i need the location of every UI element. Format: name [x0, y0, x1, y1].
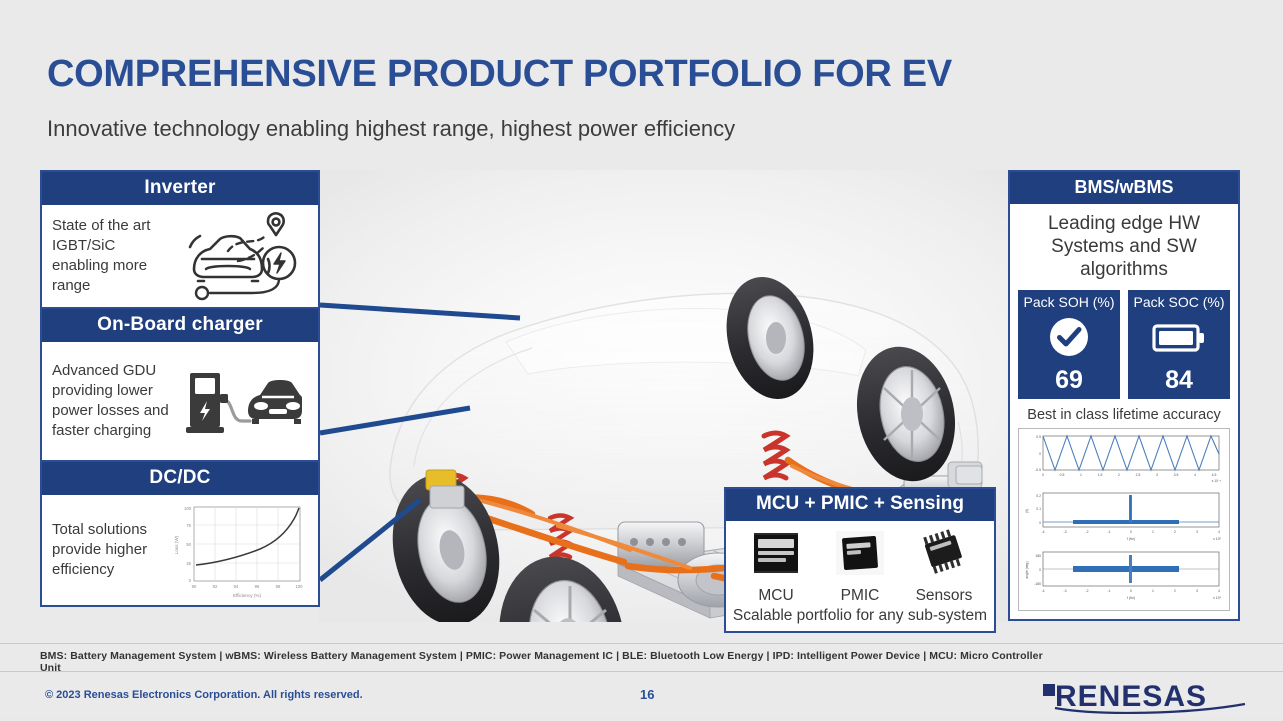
svg-text:2: 2 [1174, 530, 1176, 534]
page-number: 16 [640, 687, 654, 702]
svg-text:-3: -3 [1063, 530, 1066, 534]
svg-text:4: 4 [1218, 589, 1220, 593]
renesas-logo-mark: RENESAS [1039, 676, 1259, 716]
svg-text:-2: -2 [1085, 589, 1088, 593]
slide-root: COMPREHENSIVE PRODUCT PORTFOLIO FOR EV I… [0, 0, 1283, 716]
svg-text:-1: -1 [1107, 530, 1110, 534]
svg-text:3: 3 [1156, 473, 1158, 477]
svg-text:-2: -2 [1085, 530, 1088, 534]
bms-mag-xlabel: f (Hz) [1127, 537, 1135, 541]
svg-text:0.1: 0.1 [1036, 507, 1041, 511]
svg-text:1: 1 [1152, 589, 1154, 593]
svg-text:100: 100 [184, 506, 192, 511]
svg-text:0: 0 [1130, 530, 1132, 534]
panel-inverter-title: Inverter [42, 172, 318, 205]
svg-text:4: 4 [1218, 530, 1220, 534]
panel-bms-title: BMS/wBMS [1010, 172, 1238, 204]
footer-divider-top [0, 643, 1283, 644]
svg-text:2: 2 [1118, 473, 1120, 477]
svg-text:1: 1 [1152, 530, 1154, 534]
svg-text:50: 50 [186, 542, 191, 547]
page-subtitle: Innovative technology enabling highest r… [47, 116, 1047, 142]
svg-text:0.2: 0.2 [1036, 494, 1041, 498]
svg-text:-4: -4 [1041, 530, 1044, 534]
footer-divider-bottom [0, 671, 1283, 672]
svg-text:25: 25 [186, 561, 191, 566]
svg-text:1.5: 1.5 [1098, 473, 1103, 477]
renesas-logo-text: RENESAS [1055, 680, 1207, 713]
svg-text:x 10⁵: x 10⁵ [1213, 596, 1221, 600]
chip-mcu-label: MCU [734, 587, 817, 605]
bms-chart-stack: 0 0.5 1 1.5 2 2.5 3 3.5 4 4.5 0.5 0 -0.5… [1018, 428, 1230, 611]
chip-mcu[interactable]: MCU [734, 527, 817, 605]
svg-text:0: 0 [1130, 589, 1132, 593]
panel-dcdc-title: DC/DC [42, 462, 318, 495]
page-title: COMPREHENSIVE PRODUCT PORTFOLIO FOR EV [47, 55, 1047, 95]
panel-mcu-title: MCU + PMIC + Sensing [726, 489, 994, 521]
bms-spectrum-magnitude-plot: -4 -3 -2 -1 0 1 2 3 4 0.2 0.1 0 f (Hz) x… [1021, 489, 1231, 543]
svg-text:-4: -4 [1041, 589, 1044, 593]
panel-mcu-pmic-sensing[interactable]: MCU + PMIC + Sensing MCU [724, 487, 996, 633]
panel-onboard-charger-text: Advanced GDU providing lower power losse… [52, 361, 170, 440]
bms-phase-ylabel: angle (deg) [1025, 561, 1029, 578]
svg-text:92: 92 [213, 584, 218, 589]
gauge-pack-soh-value: 69 [1020, 368, 1118, 393]
svg-text:2.5: 2.5 [1136, 473, 1141, 477]
svg-text:-0.5: -0.5 [1035, 468, 1041, 472]
svg-text:4.5: 4.5 [1212, 473, 1217, 477]
bms-gauges: Pack SOH (%) 69 Pack SOC (%) [1010, 290, 1238, 405]
gauge-pack-soh[interactable]: Pack SOH (%) 69 [1018, 290, 1120, 399]
gauge-pack-soc[interactable]: Pack SOC (%) 84 [1128, 290, 1230, 399]
svg-text:x 10⁵: x 10⁵ [1213, 537, 1221, 541]
dcdc-xlabel: Efficiency (%) [233, 593, 261, 598]
svg-text:100: 100 [296, 584, 304, 589]
svg-text:-1: -1 [1107, 589, 1110, 593]
panel-dcdc-text: Total solutions provide higher efficienc… [52, 520, 170, 579]
bms-mag-ylabel: |X| [1025, 509, 1029, 513]
svg-text:96: 96 [255, 584, 260, 589]
svg-text:75: 75 [186, 523, 191, 528]
ev-car-route-charge-icon [170, 211, 308, 301]
svg-text:0: 0 [1039, 568, 1041, 572]
svg-text:3: 3 [1196, 530, 1198, 534]
svg-text:-3: -3 [1063, 589, 1066, 593]
svg-text:2: 2 [1174, 589, 1176, 593]
bms-spectrum-phase-plot: -4 -3 -2 -1 0 1 2 3 4 180 0 -180 f (Hz) … [1021, 548, 1231, 602]
left-feature-column: Inverter State of the art IGBT/SiC enabl… [40, 170, 320, 607]
qfp-chip-icon [830, 527, 890, 579]
chip-row: MCU PMIC [726, 521, 994, 605]
chip-sensors[interactable]: Sensors [902, 527, 985, 605]
bms-triangle-waveform-plot: 0 0.5 1 1.5 2 2.5 3 3.5 4 4.5 0.5 0 -0.5… [1021, 432, 1231, 484]
dcdc-efficiency-plot: 90 92 94 96 98 100 100 75 50 25 0 E [170, 499, 308, 601]
panel-bms-lead: Leading edge HW Systems and SW algorithm… [1010, 204, 1238, 290]
copyright-notice: © 2023 Renesas Electronics Corporation. … [45, 689, 363, 701]
panel-dcdc[interactable]: DC/DC Total solutions provide higher eff… [40, 462, 320, 607]
svg-text:90: 90 [192, 584, 197, 589]
svg-text:3.5: 3.5 [1174, 473, 1179, 477]
chip-sensors-label: Sensors [902, 587, 985, 605]
bms-phase-xlabel: f (Hz) [1127, 596, 1135, 600]
gauge-pack-soc-value: 84 [1130, 368, 1228, 393]
dcdc-ylabel: Loss (W) [174, 535, 179, 554]
svg-text:0.5: 0.5 [1060, 473, 1065, 477]
gauge-pack-soc-label: Pack SOC (%) [1130, 295, 1228, 310]
panel-inverter[interactable]: Inverter State of the art IGBT/SiC enabl… [40, 170, 320, 309]
panel-onboard-charger-title: On-Board charger [42, 309, 318, 342]
svg-text:1: 1 [1080, 473, 1082, 477]
panel-bms-caption: Best in class lifetime accuracy [1010, 405, 1238, 428]
svg-text:98: 98 [276, 584, 281, 589]
chip-pmic[interactable]: PMIC [818, 527, 901, 605]
gauge-pack-soh-label: Pack SOH (%) [1020, 295, 1118, 310]
renesas-logo: RENESAS [1039, 676, 1259, 721]
panel-inverter-text: State of the art IGBT/SiC enabling more … [52, 216, 170, 295]
svg-text:3: 3 [1196, 589, 1198, 593]
battery-full-icon [1130, 314, 1228, 365]
soic-chip-icon [914, 527, 974, 579]
svg-text:0: 0 [1039, 452, 1041, 456]
svg-text:-180: -180 [1034, 582, 1041, 586]
svg-text:x 10⁻³: x 10⁻³ [1212, 479, 1222, 483]
svg-text:0: 0 [1039, 521, 1041, 525]
svg-text:4: 4 [1194, 473, 1196, 477]
efficiency-curve-chart: 90 92 94 96 98 100 100 75 50 25 0 E [170, 499, 308, 601]
panel-bms[interactable]: BMS/wBMS Leading edge HW Systems and SW … [1008, 170, 1240, 621]
charging-station-car-icon [170, 359, 308, 443]
svg-text:0: 0 [1042, 473, 1044, 477]
bga-chip-icon [746, 527, 806, 579]
panel-mcu-caption: Scalable portfolio for any sub-system [726, 605, 994, 631]
panel-onboard-charger[interactable]: On-Board charger Advanced GDU providing … [40, 309, 320, 462]
svg-text:0.5: 0.5 [1036, 435, 1041, 439]
svg-text:94: 94 [234, 584, 239, 589]
check-circle-icon [1020, 314, 1118, 365]
svg-text:180: 180 [1035, 554, 1041, 558]
chip-pmic-label: PMIC [818, 587, 901, 605]
